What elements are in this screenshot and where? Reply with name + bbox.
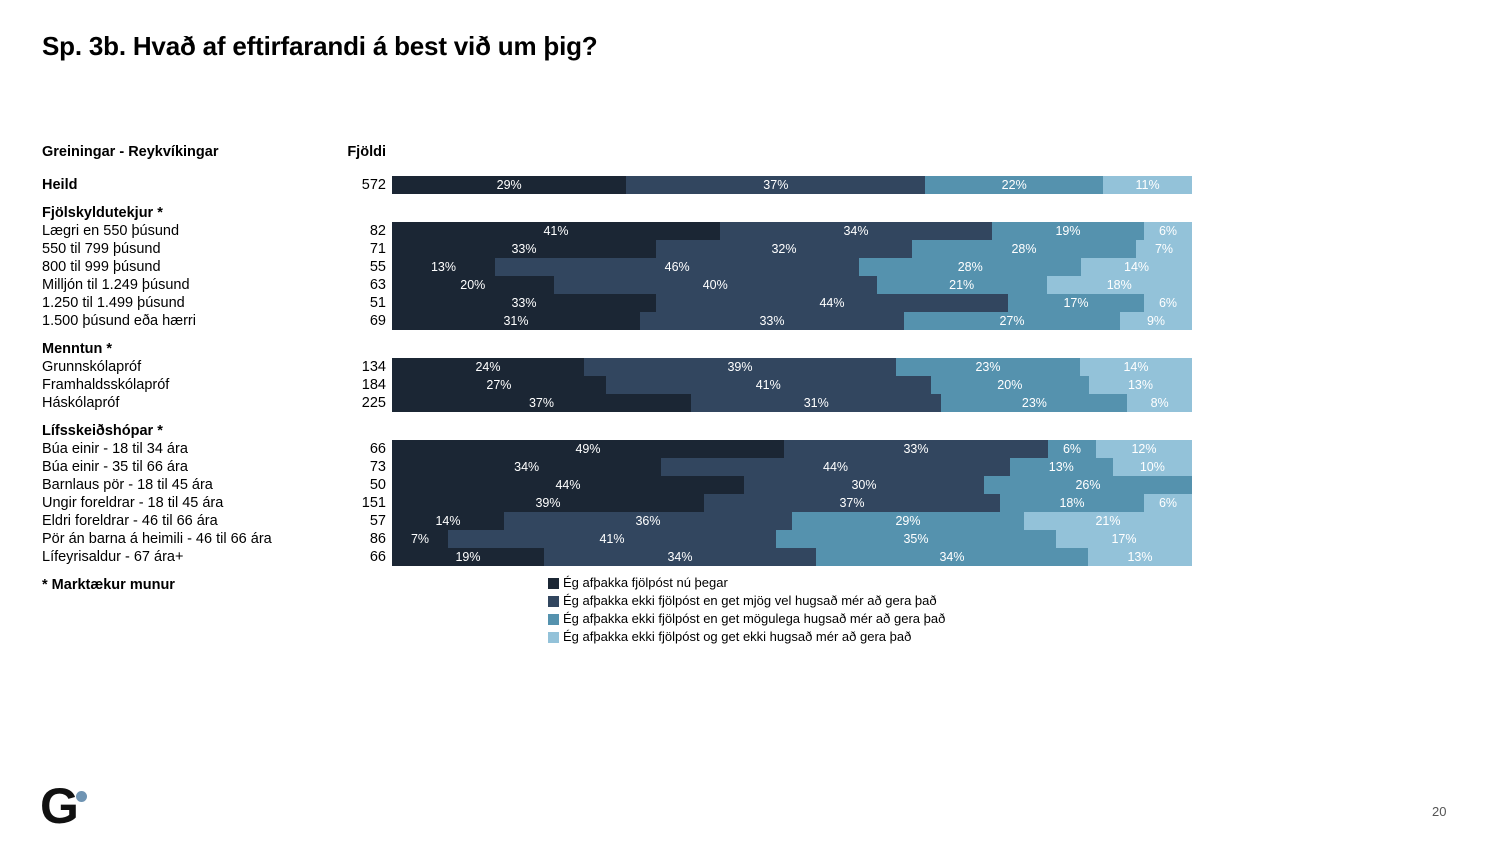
bar-segment-s3: 13% xyxy=(1010,458,1113,476)
legend-label: Ég afþakka fjölpóst nú þegar xyxy=(563,574,728,592)
legend-swatch-icon xyxy=(548,632,559,643)
row-bar-track: 29%37%22%11% xyxy=(392,176,1192,194)
row-bar-track: 20%40%21%18% xyxy=(392,276,1192,294)
chart-row: Framhaldsskólapróf18427%41%20%13% xyxy=(42,376,1202,394)
row-count: 572 xyxy=(334,176,392,194)
row-bar-track: 27%41%20%13% xyxy=(392,376,1192,394)
bar-segment-s1: 19% xyxy=(392,548,544,566)
bar-segment-s3: 35% xyxy=(776,530,1056,548)
bar-segment-s2: 30% xyxy=(744,476,984,494)
row-label: Lægri en 550 þúsund xyxy=(42,222,334,240)
row-count: 69 xyxy=(334,312,392,330)
chart-row: Lífeyrisaldur - 67 ára+6619%34%34%13% xyxy=(42,548,1202,566)
bar-segment-s1: 34% xyxy=(392,458,661,476)
logo-dot-icon xyxy=(76,791,87,802)
page-number: 20 xyxy=(1432,804,1446,819)
row-label: Barnlaus pör - 18 til 45 ára xyxy=(42,476,334,494)
bar-segment-s3: 23% xyxy=(941,394,1127,412)
row-bar-track: 14%36%29%21% xyxy=(392,512,1192,530)
row-label: Búa einir - 18 til 34 ára xyxy=(42,440,334,458)
row-bar-track: 31%33%27%9% xyxy=(392,312,1192,330)
bar-segment-s3: 27% xyxy=(904,312,1120,330)
chart-header-row: Greiningar - Reykvíkingar Fjöldi xyxy=(42,138,1202,160)
bar-segment-s1: 33% xyxy=(392,240,656,258)
chart-row: Lægri en 550 þúsund8241%34%19%6% xyxy=(42,222,1202,240)
bar-segment-s4: 17% xyxy=(1056,530,1192,548)
chart-row: Ungir foreldrar - 18 til 45 ára15139%37%… xyxy=(42,494,1202,512)
row-label: Milljón til 1.249 þúsund xyxy=(42,276,334,294)
bar-segment-s3: 19% xyxy=(992,222,1144,240)
bar-segment-s1: 7% xyxy=(392,530,448,548)
row-bar-spacer xyxy=(392,422,1192,440)
bar-segment-s2: 39% xyxy=(584,358,896,376)
row-label: Menntun * xyxy=(42,340,334,358)
bar-segment-s3: 18% xyxy=(1000,494,1144,512)
row-bar-track: 44%30%26% xyxy=(392,476,1192,494)
bar-segment-s2: 33% xyxy=(640,312,904,330)
row-bar-track: 7%41%35%17% xyxy=(392,530,1192,548)
chart-row: Fjölskyldutekjur * xyxy=(42,204,1202,222)
row-label: Ungir foreldrar - 18 til 45 ára xyxy=(42,494,334,512)
bar-segment-s2: 36% xyxy=(504,512,792,530)
row-label: Fjölskyldutekjur * xyxy=(42,204,334,222)
bar-segment-s4: 10% xyxy=(1113,458,1192,476)
column-header-count: Fjöldi xyxy=(334,144,392,160)
chart-row: 800 til 999 þúsund5513%46%28%14% xyxy=(42,258,1202,276)
chart-row: Milljón til 1.249 þúsund6320%40%21%18% xyxy=(42,276,1202,294)
bar-segment-s4: 8% xyxy=(1127,394,1192,412)
legend-item: Ég afþakka fjölpóst nú þegar xyxy=(548,574,945,592)
bar-segment-s1: 44% xyxy=(392,476,744,494)
row-count: 82 xyxy=(334,222,392,240)
row-count: 66 xyxy=(334,548,392,566)
bar-segment-s4: 14% xyxy=(1081,258,1192,276)
bar-segment-s2: 34% xyxy=(720,222,992,240)
legend-label: Ég afþakka ekki fjölpóst en get mjög vel… xyxy=(563,592,937,610)
bar-segment-s1: 49% xyxy=(392,440,784,458)
chart-row: Búa einir - 18 til 34 ára6649%33%6%12% xyxy=(42,440,1202,458)
bar-segment-s4: 9% xyxy=(1120,312,1192,330)
bar-segment-s2: 40% xyxy=(554,276,877,294)
bar-segment-s3: 28% xyxy=(859,258,1081,276)
bar-segment-s3: 28% xyxy=(912,240,1136,258)
legend-item: Ég afþakka ekki fjölpóst og get ekki hug… xyxy=(548,628,945,646)
row-label: Framhaldsskólapróf xyxy=(42,376,334,394)
bar-segment-s2: 37% xyxy=(704,494,1000,512)
row-count: 184 xyxy=(334,376,392,394)
row-label: Búa einir - 35 til 66 ára xyxy=(42,458,334,476)
bar-segment-s1: 37% xyxy=(392,394,691,412)
legend-item: Ég afþakka ekki fjölpóst en get mögulega… xyxy=(548,610,945,628)
legend-swatch-icon xyxy=(548,596,559,607)
row-bar-track: 33%44%17%6% xyxy=(392,294,1192,312)
row-label: Pör án barna á heimili - 46 til 66 ára xyxy=(42,530,334,548)
row-label: 1.250 til 1.499 þúsund xyxy=(42,294,334,312)
legend-label: Ég afþakka ekki fjölpóst en get mögulega… xyxy=(563,610,945,628)
bar-segment-s2: 44% xyxy=(661,458,1010,476)
row-label: * Marktækur munur xyxy=(42,576,334,594)
row-bar-track: 24%39%23%14% xyxy=(392,358,1192,376)
bar-segment-s2: 32% xyxy=(656,240,912,258)
brand-logo: G xyxy=(40,785,120,831)
chart-row: Barnlaus pör - 18 til 45 ára5044%30%26% xyxy=(42,476,1202,494)
bar-segment-s3: 20% xyxy=(931,376,1089,394)
bar-segment-s1: 24% xyxy=(392,358,584,376)
legend-swatch-icon xyxy=(548,578,559,589)
bar-segment-s1: 13% xyxy=(392,258,495,276)
bar-segment-s2: 37% xyxy=(626,176,925,194)
bar-segment-s1: 33% xyxy=(392,294,656,312)
bar-segment-s1: 14% xyxy=(392,512,504,530)
bar-segment-s2: 44% xyxy=(656,294,1008,312)
row-label: 800 til 999 þúsund xyxy=(42,258,334,276)
bar-segment-s1: 31% xyxy=(392,312,640,330)
bar-segment-s3: 17% xyxy=(1008,294,1144,312)
row-bar-track: 41%34%19%6% xyxy=(392,222,1192,240)
row-count: 71 xyxy=(334,240,392,258)
row-count: 50 xyxy=(334,476,392,494)
chart-row: Heild57229%37%22%11% xyxy=(42,176,1202,194)
bar-segment-s3: 29% xyxy=(792,512,1024,530)
chart-row: Búa einir - 35 til 66 ára7334%44%13%10% xyxy=(42,458,1202,476)
chart-row: 1.500 þúsund eða hærri6931%33%27%9% xyxy=(42,312,1202,330)
row-count: 51 xyxy=(334,294,392,312)
stacked-bar-chart: Greiningar - Reykvíkingar Fjöldi Heild57… xyxy=(42,138,1202,594)
bar-segment-s3: 21% xyxy=(877,276,1047,294)
column-header-group: Greiningar - Reykvíkingar xyxy=(42,144,334,160)
bar-segment-s4: 13% xyxy=(1089,376,1192,394)
chart-row: 1.250 til 1.499 þúsund5133%44%17%6% xyxy=(42,294,1202,312)
bar-segment-s3: 34% xyxy=(816,548,1088,566)
chart-legend: Ég afþakka fjölpóst nú þegarÉg afþakka e… xyxy=(548,574,945,646)
row-label: 550 til 799 þúsund xyxy=(42,240,334,258)
chart-row: Grunnskólapróf13424%39%23%14% xyxy=(42,358,1202,376)
row-bar-track: 33%32%28%7% xyxy=(392,240,1192,258)
chart-row: Lífsskeiðshópar * xyxy=(42,422,1202,440)
row-bar-spacer xyxy=(392,204,1192,222)
bar-segment-s4: 18% xyxy=(1047,276,1192,294)
row-count: 225 xyxy=(334,394,392,412)
bar-segment-s3: 6% xyxy=(1048,440,1096,458)
bar-segment-s4: 6% xyxy=(1144,294,1192,312)
row-count: 63 xyxy=(334,276,392,294)
page-title: Sp. 3b. Hvað af eftirfarandi á best við … xyxy=(42,31,597,62)
bar-segment-s4: 11% xyxy=(1103,176,1192,194)
row-count: 151 xyxy=(334,494,392,512)
row-count: 86 xyxy=(334,530,392,548)
row-bar-track: 49%33%6%12% xyxy=(392,440,1192,458)
row-bar-track: 39%37%18%6% xyxy=(392,494,1192,512)
bar-segment-s4: 12% xyxy=(1096,440,1192,458)
bar-segment-s3: 22% xyxy=(925,176,1103,194)
row-bar-track: 34%44%13%10% xyxy=(392,458,1192,476)
row-count: 134 xyxy=(334,358,392,376)
legend-item: Ég afþakka ekki fjölpóst en get mjög vel… xyxy=(548,592,945,610)
chart-row: Menntun * xyxy=(42,340,1202,358)
row-count: 73 xyxy=(334,458,392,476)
row-label: 1.500 þúsund eða hærri xyxy=(42,312,334,330)
bar-segment-s1: 29% xyxy=(392,176,626,194)
chart-row: 550 til 799 þúsund7133%32%28%7% xyxy=(42,240,1202,258)
row-label: Lífeyrisaldur - 67 ára+ xyxy=(42,548,334,566)
chart-row: Eldri foreldrar - 46 til 66 ára5714%36%2… xyxy=(42,512,1202,530)
row-label: Lífsskeiðshópar * xyxy=(42,422,334,440)
row-count: 55 xyxy=(334,258,392,276)
bar-segment-s1: 41% xyxy=(392,222,720,240)
chart-row: Pör án barna á heimili - 46 til 66 ára86… xyxy=(42,530,1202,548)
logo-letter: G xyxy=(40,781,77,831)
row-count: 66 xyxy=(334,440,392,458)
bar-segment-s4: 14% xyxy=(1080,358,1192,376)
chart-rows: Heild57229%37%22%11%Fjölskyldutekjur *Læ… xyxy=(42,176,1202,594)
bar-segment-s4: 6% xyxy=(1144,494,1192,512)
row-count: 57 xyxy=(334,512,392,530)
bar-segment-s4: 7% xyxy=(1136,240,1192,258)
legend-label: Ég afþakka ekki fjölpóst og get ekki hug… xyxy=(563,628,911,646)
bar-segment-s3: 23% xyxy=(896,358,1080,376)
bar-segment-s4: 6% xyxy=(1144,222,1192,240)
bar-segment-s4: 21% xyxy=(1024,512,1192,530)
row-label: Grunnskólapróf xyxy=(42,358,334,376)
bar-segment-s1: 20% xyxy=(392,276,554,294)
bar-segment-s2: 31% xyxy=(691,394,942,412)
row-bar-spacer xyxy=(392,340,1192,358)
bar-segment-s2: 33% xyxy=(784,440,1048,458)
bar-segment-s2: 46% xyxy=(495,258,859,276)
bar-segment-s3: 26% xyxy=(984,476,1192,494)
row-bar-track: 13%46%28%14% xyxy=(392,258,1192,276)
row-bar-track: 37%31%23%8% xyxy=(392,394,1192,412)
chart-row: Háskólapróf22537%31%23%8% xyxy=(42,394,1202,412)
row-bar-track: 19%34%34%13% xyxy=(392,548,1192,566)
bar-segment-s2: 41% xyxy=(606,376,931,394)
bar-segment-s4: 13% xyxy=(1088,548,1192,566)
bar-segment-s1: 39% xyxy=(392,494,704,512)
legend-swatch-icon xyxy=(548,614,559,625)
row-label: Eldri foreldrar - 46 til 66 ára xyxy=(42,512,334,530)
bar-segment-s2: 41% xyxy=(448,530,776,548)
row-label: Heild xyxy=(42,176,334,194)
bar-segment-s1: 27% xyxy=(392,376,606,394)
row-label: Háskólapróf xyxy=(42,394,334,412)
bar-segment-s2: 34% xyxy=(544,548,816,566)
